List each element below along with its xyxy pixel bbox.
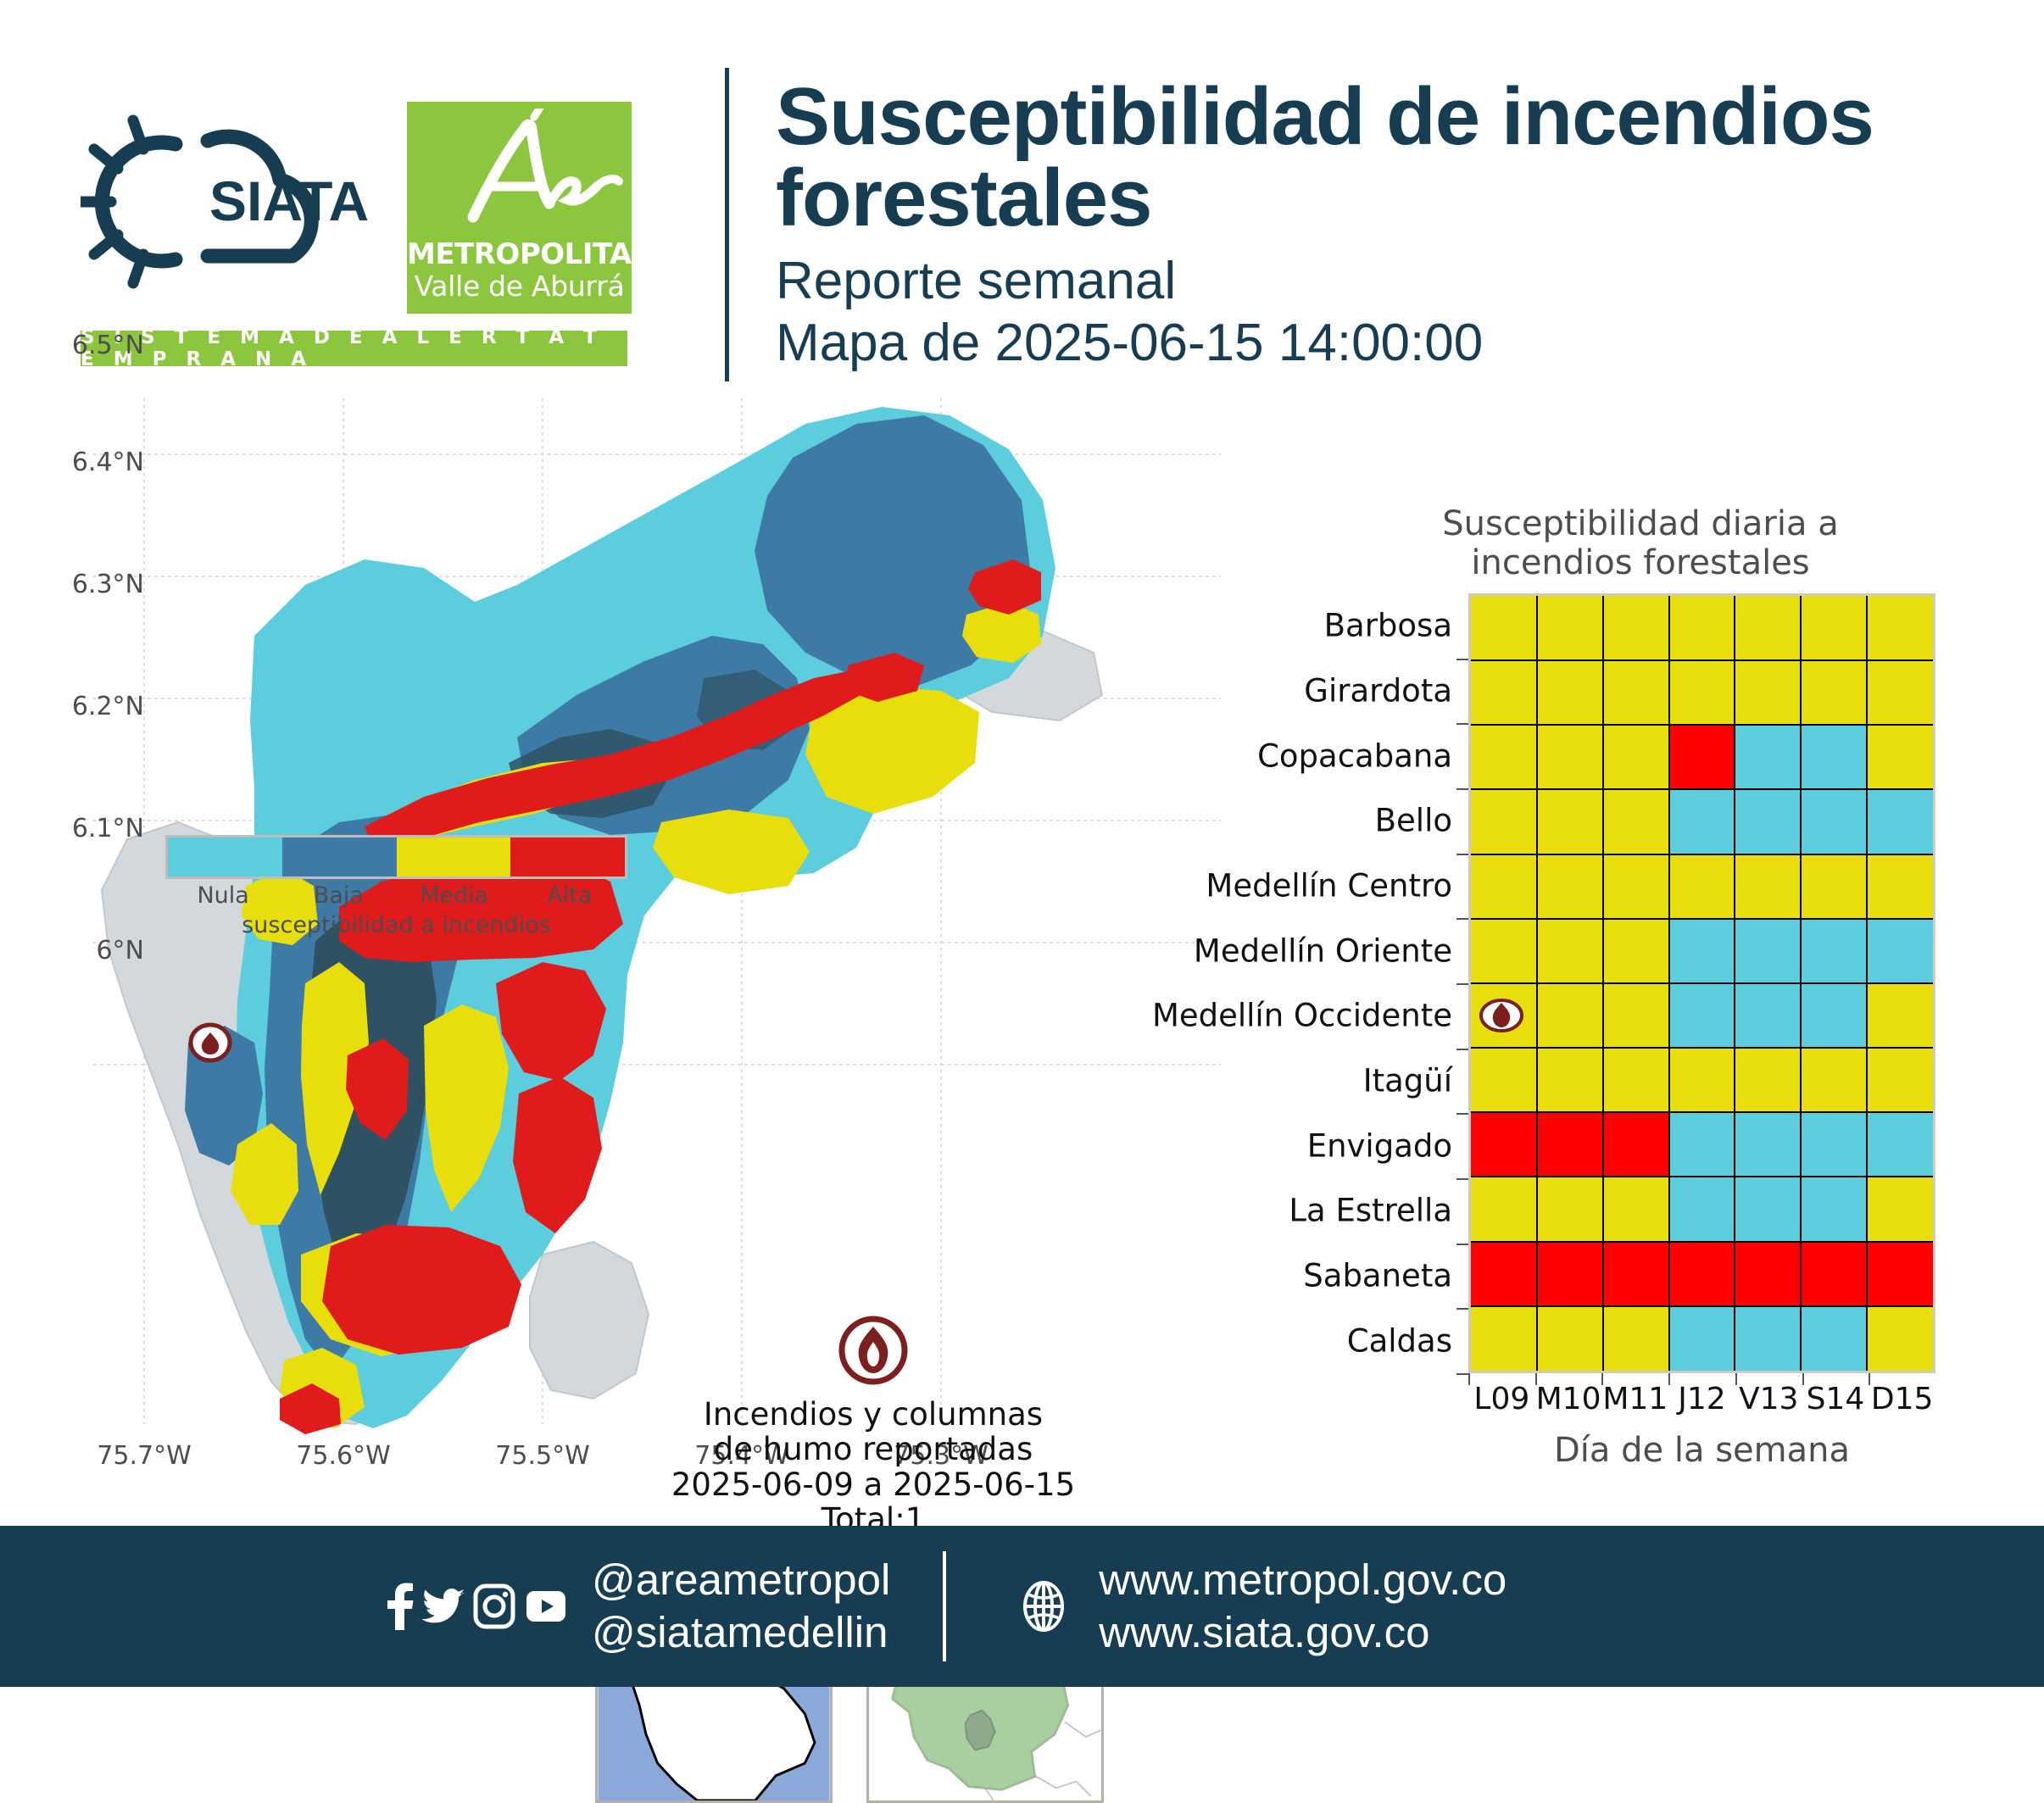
heatmap-cell[interactable] (1735, 1306, 1801, 1371)
heatmap-cell[interactable] (1603, 725, 1669, 789)
heatmap-ytick (1456, 918, 1468, 920)
heatmap-cell[interactable] (1471, 789, 1537, 854)
heatmap-cell[interactable] (1669, 789, 1735, 854)
map-ytick-4: 6.1°N (25, 814, 144, 843)
area-metropolitana-label: METROPOLITANA (407, 237, 632, 271)
heatmap-cell[interactable] (1537, 919, 1603, 983)
heatmap-column-label: D15 (1856, 1382, 1949, 1416)
handle-areametropol[interactable]: @areametropol (592, 1554, 890, 1606)
heatmap-cell[interactable] (1471, 660, 1537, 725)
link-metropol[interactable]: www.metropol.gov.co (1099, 1554, 1507, 1606)
legend-swatch-media (397, 838, 511, 876)
social-handles: @areametropol @siatamedellin (592, 1554, 890, 1659)
heatmap-cell[interactable] (1735, 725, 1801, 789)
heatmap-cell[interactable] (1867, 1242, 1933, 1306)
page-header: SIATA S I S T E M A D E A L E R T A T E … (0, 0, 2044, 398)
heatmap-row-label: Medellín Centro (1206, 868, 1452, 904)
link-siata[interactable]: www.siata.gov.co (1099, 1606, 1507, 1659)
heatmap-cell[interactable] (1537, 1242, 1603, 1306)
heatmap-row-label: Bello (1375, 803, 1452, 839)
heatmap-row-label: Itagüí (1363, 1063, 1452, 1099)
heatmap-ytick (1456, 1373, 1468, 1375)
heatmap-cell[interactable] (1471, 596, 1537, 660)
page-title: Susceptibilidad de incendios forestales (776, 76, 2005, 239)
handle-siatamedellin[interactable]: @siatamedellin (592, 1606, 890, 1659)
heatmap-title-line2: incendios forestales (1378, 543, 1903, 582)
title-block: Susceptibilidad de incendios forestales … (776, 76, 2005, 373)
map-ytick-0: 6.5°N (25, 331, 144, 360)
heatmap-xtick (1802, 1373, 1804, 1385)
heatmap-cell[interactable] (1801, 725, 1867, 789)
heatmap-ytick (1456, 1113, 1468, 1115)
youtube-icon[interactable] (524, 1583, 568, 1630)
heatmap-grid[interactable] (1468, 593, 1935, 1373)
heatmap-cell[interactable] (1867, 789, 1933, 854)
heatmap-title: Susceptibilidad diaria a incendios fores… (1378, 504, 1903, 582)
heatmap-row-label: Medellín Occidente (1152, 998, 1452, 1034)
heatmap-cell[interactable] (1801, 1242, 1867, 1306)
legend-label-baja: Baja (281, 882, 396, 909)
heatmap-cell[interactable] (1735, 660, 1801, 725)
map-timestamp: Mapa de 2025-06-15 14:00:00 (776, 313, 2005, 373)
daily-susceptibility-heatmap-panel: Susceptibilidad diaria a incendios fores… (1221, 398, 2044, 1526)
heatmap-cell[interactable] (1471, 919, 1537, 983)
heatmap-xtick (1668, 1373, 1670, 1385)
heatmap-cell[interactable] (1603, 983, 1669, 1048)
map-ytick-1: 6.4°N (25, 448, 144, 477)
fire-report-line2: de humo reportadas (661, 1432, 1085, 1466)
facebook-icon[interactable] (386, 1583, 415, 1630)
heatmap-cell[interactable] (1801, 660, 1867, 725)
globe-icon (1017, 1580, 1070, 1633)
legend-swatch-alta (510, 838, 625, 876)
heatmap-cell[interactable] (1603, 919, 1669, 983)
heatmap-cell[interactable] (1867, 919, 1933, 983)
map-legend: Nula Baja Media Alta susceptibilidad a i… (165, 835, 627, 938)
heatmap-cell[interactable] (1537, 1306, 1603, 1371)
map-ytick-2: 6.3°N (25, 570, 144, 599)
twitter-icon[interactable] (422, 1583, 465, 1630)
instagram-icon[interactable] (472, 1583, 516, 1630)
heatmap-ytick (1456, 659, 1468, 660)
heatmap-cell[interactable] (1471, 1112, 1537, 1177)
heatmap-cell[interactable] (1735, 1048, 1801, 1112)
heatmap-cell[interactable] (1471, 1242, 1537, 1306)
heatmap-row-label: Barbosa (1324, 608, 1452, 644)
heatmap-cell[interactable] (1603, 854, 1669, 919)
heatmap-row-label: Girardota (1304, 673, 1452, 710)
heatmap-cell[interactable] (1867, 1177, 1933, 1241)
heatmap-cell[interactable] (1471, 1306, 1537, 1371)
heatmap-cell[interactable] (1867, 1112, 1933, 1177)
heatmap-cell[interactable] (1471, 725, 1537, 789)
page-title-line1: Susceptibilidad de incendios (776, 76, 2005, 158)
heatmap-ytick (1456, 1049, 1468, 1050)
heatmap-xtick (1468, 1373, 1470, 1385)
heatmap-cell[interactable] (1801, 1048, 1867, 1112)
heatmap-cell[interactable] (1801, 919, 1867, 983)
heatmap-ytick (1456, 854, 1468, 855)
fire-report-legend: Incendios y columnas de humo reportadas … (661, 1314, 1085, 1538)
legend-swatch-nula (168, 838, 282, 876)
heatmap-cell[interactable] (1867, 854, 1933, 919)
legend-caption: susceptibilidad a incendios (165, 912, 627, 938)
heatmap-cell[interactable] (1669, 660, 1735, 725)
heatmap-cell[interactable] (1801, 983, 1867, 1048)
svg-text:SIATA: SIATA (209, 170, 369, 232)
heatmap-cell[interactable] (1867, 1306, 1933, 1371)
heatmap-row-label: Medellín Oriente (1194, 932, 1452, 969)
page-title-line2: forestales (776, 158, 2005, 239)
heatmap-cell[interactable] (1669, 725, 1735, 789)
map-ytick-5: 6°N (25, 936, 144, 965)
heatmap-cell[interactable] (1537, 660, 1603, 725)
heatmap-fire-marker (1479, 999, 1523, 1032)
heatmap-cell[interactable] (1669, 1112, 1735, 1177)
heatmap-cell[interactable] (1537, 1112, 1603, 1177)
area-script-wordmark (407, 109, 632, 236)
heatmap-cell[interactable] (1537, 983, 1603, 1048)
heatmap-ytick (1456, 1308, 1468, 1310)
page-footer: @areametropol @siatamedellin www.metropo… (0, 1526, 2044, 1687)
heatmap-row-label: Envigado (1307, 1127, 1452, 1164)
heatmap-ytick (1456, 723, 1468, 725)
legend-colorbar (165, 835, 627, 879)
heatmap-cell[interactable] (1603, 1306, 1669, 1371)
heatmap-cell[interactable] (1867, 660, 1933, 725)
legend-swatch-baja (282, 838, 397, 876)
heatmap-cell[interactable] (1801, 1306, 1867, 1371)
heatmap-cell[interactable] (1735, 919, 1801, 983)
fire-report-line3: 2025-06-09 a 2025-06-15 (661, 1467, 1085, 1502)
heatmap-cell[interactable] (1603, 1048, 1669, 1112)
heatmap-xtick (1869, 1373, 1870, 1385)
area-valle-label: Valle de Aburrá (407, 270, 632, 303)
heatmap-ytick (1456, 983, 1468, 985)
susceptibility-map-panel: 6.5°N 6.4°N 6.3°N 6.2°N 6.1°N 6°N 75.7°W… (0, 398, 1221, 1526)
web-links: www.metropol.gov.co www.siata.gov.co (1099, 1554, 1507, 1659)
heatmap-cell[interactable] (1537, 789, 1603, 854)
heatmap-cell[interactable] (1735, 1242, 1801, 1306)
heatmap-title-line1: Susceptibilidad diaria a (1378, 504, 1903, 543)
heatmap-cell[interactable] (1735, 596, 1801, 660)
heatmap-row-label: La Estrella (1289, 1193, 1452, 1229)
map-xtick-1: 75.6°W (267, 1441, 420, 1471)
heatmap-cell[interactable] (1735, 983, 1801, 1048)
heatmap-cell[interactable] (1471, 1048, 1537, 1112)
heatmap-ytick (1456, 788, 1468, 790)
heatmap-cell[interactable] (1603, 1177, 1669, 1241)
heatmap-cell[interactable] (1471, 854, 1537, 919)
fire-report-line1: Incendios y columnas (661, 1397, 1085, 1432)
heatmap-row-label: Caldas (1347, 1322, 1452, 1359)
heatmap-cell[interactable] (1669, 596, 1735, 660)
legend-label-nula: Nula (165, 882, 281, 909)
map-ytick-3: 6.2°N (25, 692, 144, 721)
heatmap-row-label: Sabaneta (1303, 1258, 1452, 1294)
heatmap-cell[interactable] (1867, 725, 1933, 789)
heatmap-xtick (1601, 1373, 1603, 1385)
heatmap-cell[interactable] (1669, 854, 1735, 919)
heatmap-cell[interactable] (1669, 1306, 1735, 1371)
heatmap-cell[interactable] (1603, 789, 1669, 854)
map-xtick-0: 75.7°W (68, 1441, 220, 1471)
heatmap-cell[interactable] (1867, 596, 1933, 660)
siata-tagline: S I S T E M A D E A L E R T A T E M P R … (81, 331, 627, 366)
heatmap-cell[interactable] (1801, 1177, 1867, 1241)
heatmap-cell[interactable] (1735, 1177, 1801, 1241)
heatmap-cell[interactable] (1801, 789, 1867, 854)
heatmap-cell[interactable] (1669, 1177, 1735, 1241)
heatmap-cell[interactable] (1603, 596, 1669, 660)
map-fire-marker (191, 1025, 230, 1060)
header-divider (725, 68, 729, 381)
heatmap-row-label: Copacabana (1257, 737, 1452, 774)
heatmap-cell[interactable] (1603, 660, 1669, 725)
heatmap-cell[interactable] (1537, 596, 1603, 660)
social-icons[interactable] (386, 1583, 568, 1630)
fire-report-text: Incendios y columnas de humo reportadas … (661, 1397, 1085, 1538)
heatmap-ytick (1456, 1178, 1468, 1180)
area-metropolitana-logo: METROPOLITANA Valle de Aburrá (407, 102, 632, 314)
heatmap-cell[interactable] (1669, 1242, 1735, 1306)
heatmap-cell[interactable] (1801, 1112, 1867, 1177)
heatmap-cell[interactable] (1603, 1242, 1669, 1306)
heatmap-cell[interactable] (1867, 1048, 1933, 1112)
heatmap-cell[interactable] (1537, 725, 1603, 789)
legend-label-alta: Alta (512, 882, 627, 909)
report-subtitle: Reporte semanal (776, 251, 2005, 311)
heatmap-cell[interactable] (1735, 854, 1801, 919)
map-xtick-2: 75.5°W (466, 1441, 619, 1471)
legend-label-media: Media (397, 882, 512, 909)
heatmap-xtick (1735, 1373, 1737, 1385)
heatmap-cell[interactable] (1669, 983, 1735, 1048)
heatmap-cell[interactable] (1867, 983, 1933, 1048)
heatmap-xtick (1535, 1373, 1537, 1385)
heatmap-cell[interactable] (1471, 1177, 1537, 1241)
siata-logo: SIATA (81, 102, 403, 297)
fire-circle-icon (661, 1314, 1085, 1387)
heatmap-cell[interactable] (1735, 1112, 1801, 1177)
heatmap-cell[interactable] (1801, 596, 1867, 660)
heatmap-cell[interactable] (1537, 1177, 1603, 1241)
heatmap-cell[interactable] (1735, 789, 1801, 854)
heatmap-cell[interactable] (1537, 1048, 1603, 1112)
heatmap-cell[interactable] (1801, 854, 1867, 919)
footer-divider (943, 1551, 946, 1661)
legend-labels: Nula Baja Media Alta (165, 882, 627, 909)
heatmap-cell[interactable] (1603, 1112, 1669, 1177)
heatmap-cell[interactable] (1537, 854, 1603, 919)
heatmap-ytick (1456, 1244, 1468, 1245)
heatmap-xaxis-title: Día de la semana (1468, 1431, 1935, 1470)
heatmap-cell[interactable] (1669, 1048, 1735, 1112)
heatmap-cell[interactable] (1669, 919, 1735, 983)
